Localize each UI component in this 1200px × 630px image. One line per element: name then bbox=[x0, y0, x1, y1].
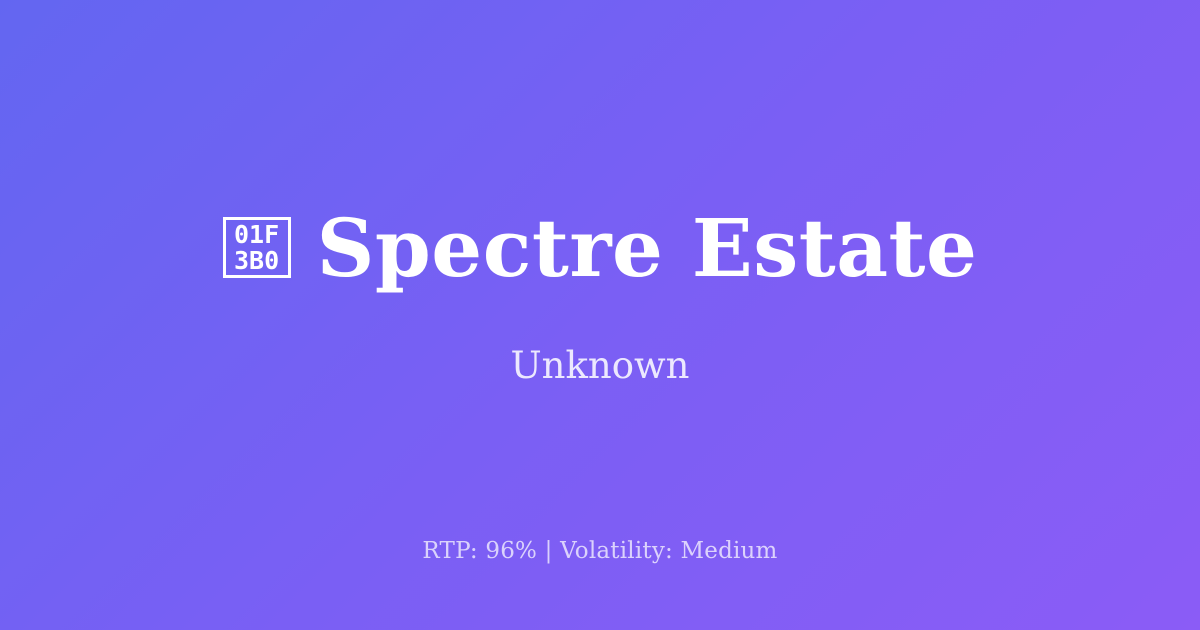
page-title: Spectre Estate bbox=[317, 206, 978, 290]
slot-machine-icon: 01F 3B0 bbox=[223, 217, 291, 278]
tofu-codepoint-top: 01F bbox=[234, 222, 279, 248]
title-row: 01F 3B0 Spectre Estate bbox=[223, 206, 978, 290]
og-share-card: 01F 3B0 Spectre Estate Unknown RTP: 96% … bbox=[0, 0, 1200, 630]
hero-block: 01F 3B0 Spectre Estate Unknown bbox=[0, 0, 1200, 630]
footer: RTP: 96% | Volatility: Medium bbox=[0, 538, 1200, 564]
tofu-codepoint-bottom: 3B0 bbox=[234, 248, 279, 274]
game-meta-line: RTP: 96% | Volatility: Medium bbox=[422, 538, 777, 564]
page-subtitle: Unknown bbox=[510, 346, 689, 387]
